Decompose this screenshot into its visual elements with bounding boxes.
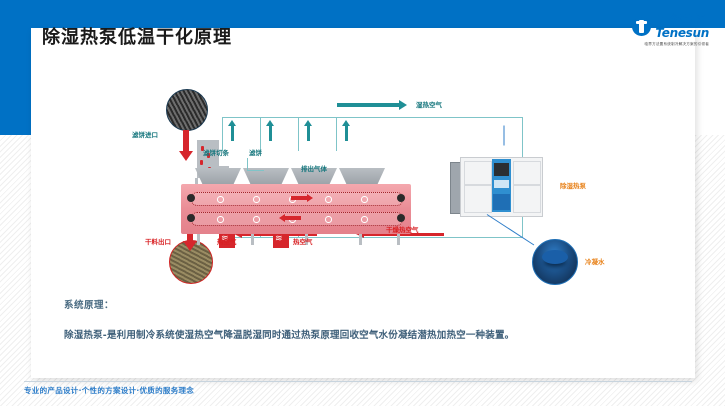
heater-element: ≋: [273, 234, 289, 248]
system-principle-block: 系统原理： 除湿热泵-是利用制冷系统使湿热空气降温脱湿同时通过热泵原理回收空气水…: [64, 297, 664, 341]
duct-divider-3: [336, 117, 337, 151]
arrow-feed-down: [183, 130, 189, 152]
machine-panel-grid: [464, 161, 492, 185]
footer-text: 专业的产品设计·个性的方案设计·优质的服务理念: [24, 385, 194, 396]
arrow-up-4: [345, 125, 348, 141]
belt-idler: [253, 216, 260, 223]
belt-idler: [361, 196, 368, 203]
machine-duct-leader: [504, 126, 505, 146]
label-dry-outlet: 干料出口: [145, 236, 171, 246]
system-principle-description: 除湿热泵-是利用制冷系统使湿热空气降温脱湿同时通过热泵原理回收空气水份凝结潜热加…: [64, 327, 664, 341]
label-dry-hot-air: 干燥热空气: [386, 224, 419, 234]
belt-idler: [325, 196, 332, 203]
machine-lower-door: [493, 194, 510, 210]
dryer-leg: [397, 234, 400, 245]
belt-idler: [253, 196, 260, 203]
label-condensate: 冷凝水: [585, 256, 605, 266]
footer-divider: [24, 381, 692, 382]
dryer-leg: [197, 234, 200, 245]
label-hot-air-2: 热空气: [293, 236, 313, 246]
machine-display: [494, 163, 509, 176]
cake-chip: [200, 160, 203, 165]
process-diagram: 湿热空气: [31, 28, 695, 298]
heater-coil-icon: ≋: [275, 236, 283, 240]
label-heat-pump: 除湿热泵: [560, 180, 586, 190]
filter-cake-photo: [166, 89, 208, 131]
dryer-roller: [397, 214, 405, 222]
duct-divider-2: [298, 117, 299, 151]
system-principle-heading: 系统原理：: [64, 297, 664, 311]
machine-panel-grid: [513, 161, 541, 185]
label-cake: 滤饼: [249, 147, 262, 157]
machine-panel-grid: [464, 185, 492, 213]
label-cake-cutting: 滤饼切条: [203, 147, 229, 157]
arrow-humid-hot-air: [337, 103, 399, 107]
belt-direction-lower: [285, 216, 301, 220]
belt-idler: [325, 216, 332, 223]
condensate-leader-line: [487, 214, 535, 245]
duct-top-horizontal: [222, 117, 522, 118]
belt-idler: [217, 216, 224, 223]
machine-vent: [494, 180, 509, 188]
arrow-up-2: [269, 125, 272, 141]
cake-callout-bracket: [247, 158, 264, 171]
belt-idler: [217, 196, 224, 203]
arrow-up-3: [307, 125, 310, 141]
label-humid-hot-air: 湿热空气: [416, 99, 442, 109]
machine-panel-grid: [513, 185, 541, 213]
brand-left-block: [0, 0, 31, 135]
label-exhaust-gas: 排出气体: [301, 163, 327, 173]
condensate-water-photo: [532, 239, 578, 285]
label-cake-inlet: 滤饼进口: [132, 129, 158, 139]
logo-chinese-name: 天舒热能: [655, 14, 709, 26]
dryer-roller: [397, 194, 405, 202]
label-hot-air-1: 热空气: [217, 236, 237, 246]
dryer-roller: [187, 194, 195, 202]
duct-divider-1: [260, 117, 261, 151]
dryer-leg: [251, 234, 254, 245]
belt-idler: [361, 216, 368, 223]
belt-direction-upper: [291, 196, 307, 200]
dryer-leg: [359, 234, 362, 245]
dehumidifying-heat-pump-unit: [450, 154, 549, 218]
belt-dryer: ≋ ≋: [181, 168, 411, 238]
dryer-roller: [187, 214, 195, 222]
arrow-up-1: [231, 125, 234, 141]
